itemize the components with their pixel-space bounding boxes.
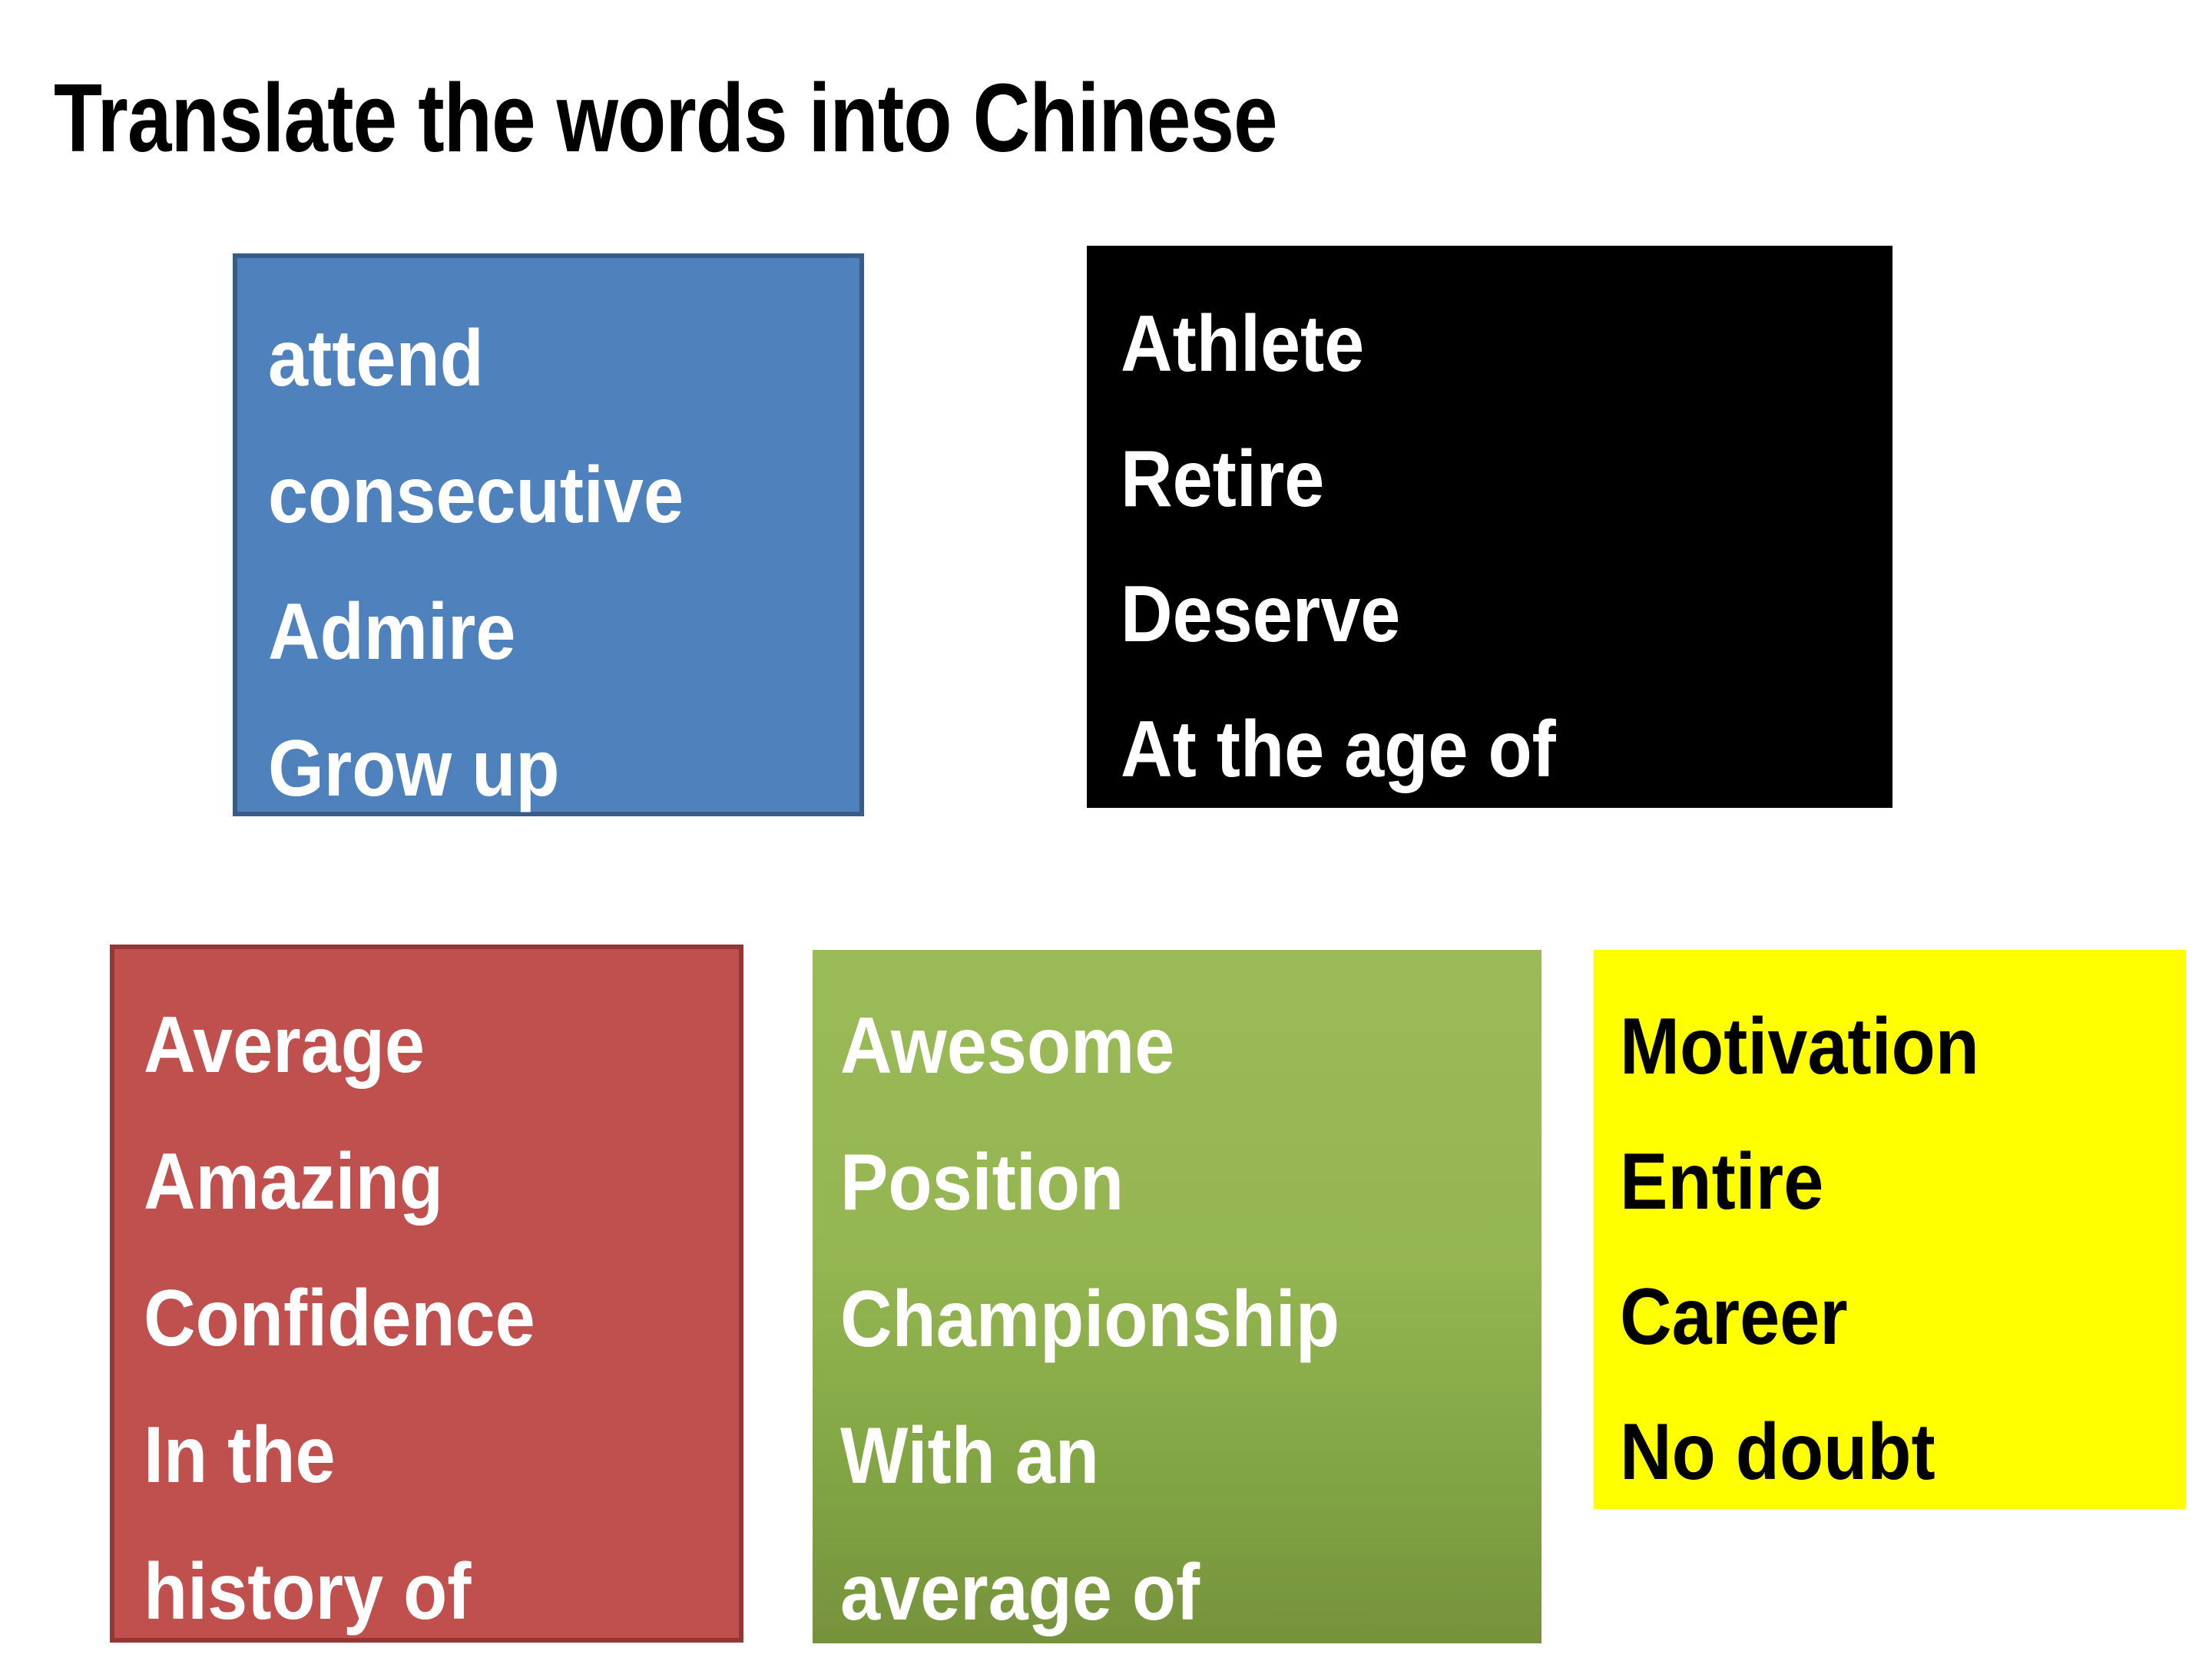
word-line: Motivation [1620, 979, 2129, 1114]
word-line: Position [840, 1114, 1472, 1251]
word-line: Confidence [144, 1250, 680, 1387]
word-line: Athlete [1121, 276, 1816, 412]
word-line: Career [1620, 1249, 2129, 1385]
red-word-card[interactable]: Average Amazing Confidence In the histor… [110, 945, 743, 1643]
word-line: Grow up [268, 700, 800, 837]
word-line: No doubt [1620, 1385, 2129, 1520]
word-line: Deserve [1121, 547, 1816, 682]
word-line: average of [840, 1524, 1472, 1661]
word-line: In the [144, 1387, 680, 1524]
word-line: consecutive [268, 427, 800, 564]
word-line: history of [144, 1524, 680, 1660]
word-line: Awesome [840, 978, 1472, 1114]
word-line: At the age of [1121, 682, 1816, 817]
word-line: Amazing [144, 1113, 680, 1250]
word-line: With an [840, 1388, 1472, 1524]
yellow-word-card[interactable]: Motivation Entire Career No doubt [1594, 950, 2186, 1509]
word-line: Retire [1121, 412, 1816, 547]
green-word-card[interactable]: Awesome Position Championship With an av… [813, 950, 1541, 1643]
word-line: Championship [840, 1251, 1472, 1388]
slide-canvas: Translate the words into Chinese attend … [0, 0, 2212, 1659]
word-line: Average [144, 977, 680, 1113]
page-title: Translate the words into Chinese [54, 65, 1277, 172]
blue-word-card[interactable]: attend consecutive Admire Grow up [233, 253, 864, 816]
black-word-card[interactable]: Athlete Retire Deserve At the age of [1087, 246, 1892, 808]
word-line: Admire [268, 564, 800, 700]
word-line: Entire [1620, 1114, 2129, 1249]
word-line: attend [268, 290, 800, 427]
